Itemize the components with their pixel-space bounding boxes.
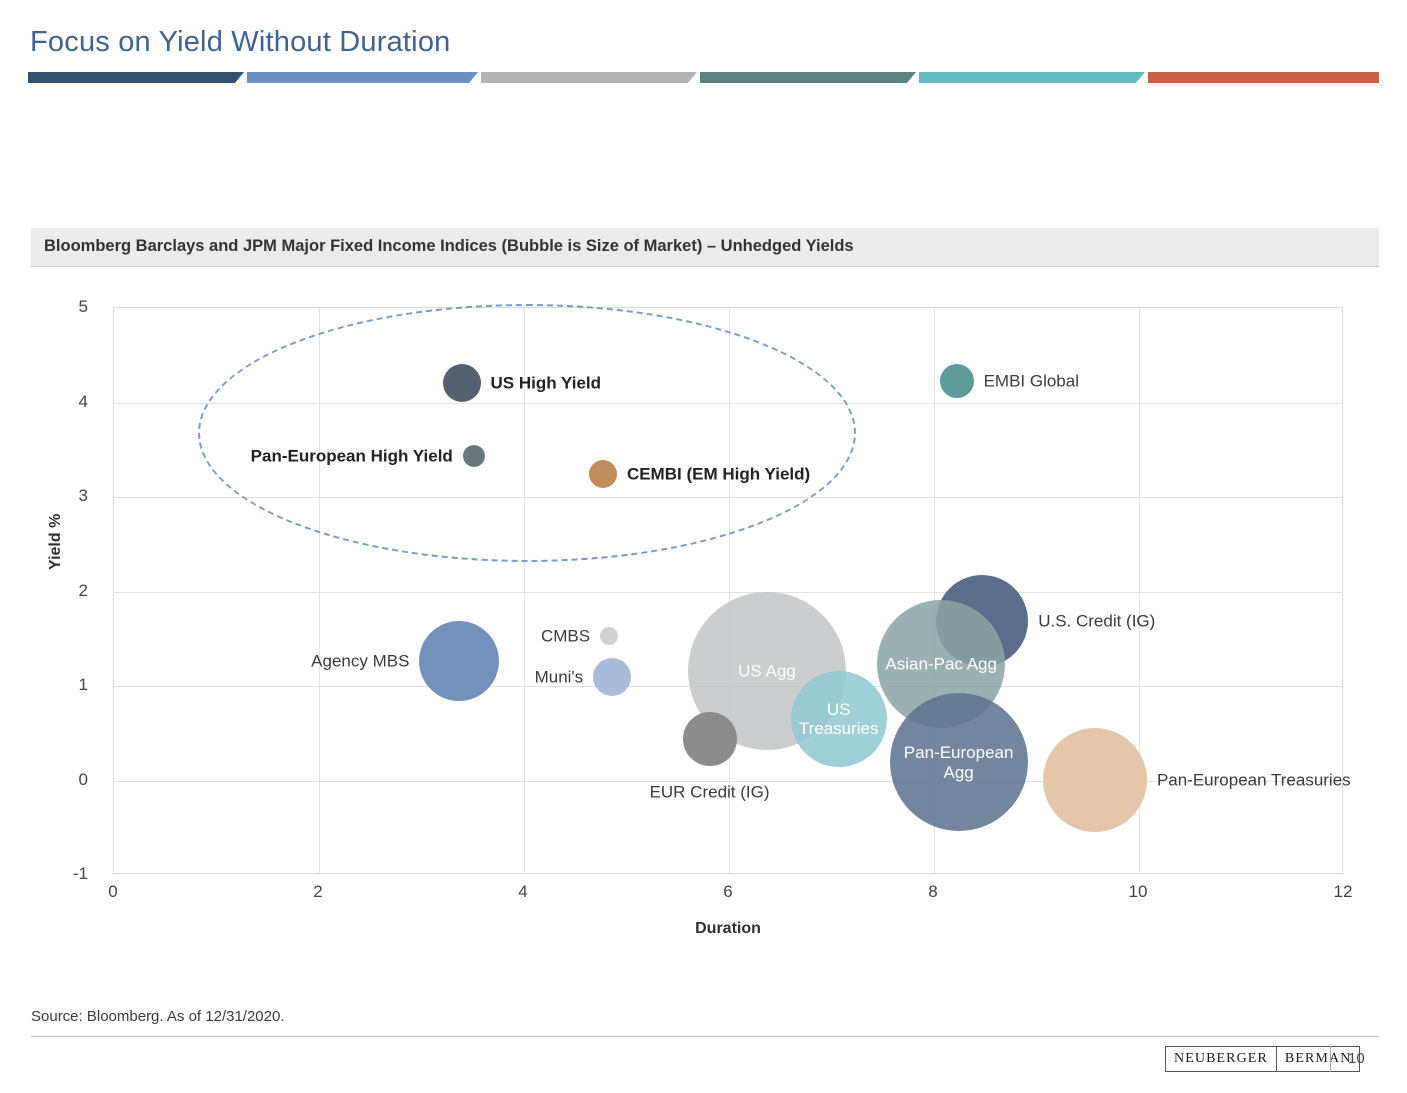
x-axis-tick-6: 6 — [698, 882, 758, 902]
bubble-us-treasuries[interactable] — [791, 671, 887, 767]
segment-gray-fill — [481, 72, 697, 83]
chart-header-rule — [31, 266, 1379, 267]
bubble-cmbs[interactable] — [600, 627, 618, 645]
segment-gray — [481, 72, 697, 83]
bubble-pan-european-treasuries[interactable] — [1043, 728, 1147, 832]
highlight-ellipse-annotation — [198, 304, 856, 562]
x-axis-tick-12: 12 — [1313, 882, 1373, 902]
source-note: Source: Bloomberg. As of 12/31/2020. — [31, 1008, 285, 1025]
y-axis-tick-3: 3 — [48, 486, 88, 506]
segment-blue — [247, 72, 478, 83]
segment-teal-fill — [700, 72, 916, 83]
neuberger-berman-logo: NEUBERGER BERMAN — [1165, 1046, 1360, 1072]
bubble-embi-global[interactable] — [940, 364, 974, 398]
segment-navy — [28, 72, 244, 83]
bubble-agency-mbs[interactable] — [419, 621, 499, 701]
gridline-horizontal — [114, 781, 1342, 782]
x-axis-tick-10: 10 — [1108, 882, 1168, 902]
page-title: Focus on Yield Without Duration — [30, 26, 450, 59]
gridline-horizontal — [114, 592, 1342, 593]
accent-bar — [28, 72, 1379, 83]
bubble-pan-european-agg[interactable] — [890, 693, 1028, 831]
x-axis-label: Duration — [0, 920, 1407, 938]
x-axis-tick-8: 8 — [903, 882, 963, 902]
y-axis-tick-neg1: -1 — [48, 864, 88, 884]
x-axis-tick-4: 4 — [493, 882, 553, 902]
logo-word-neuberger: NEUBERGER — [1166, 1047, 1276, 1071]
bubble-eur-credit-ig[interactable] — [683, 712, 737, 766]
segment-blue-fill — [247, 72, 478, 83]
segment-navy-fill — [28, 72, 244, 83]
segment-aqua — [919, 72, 1145, 83]
segment-teal — [700, 72, 916, 83]
segment-orange — [1148, 72, 1379, 83]
segment-aqua-fill — [919, 72, 1145, 83]
y-axis-tick-0: 0 — [48, 770, 88, 790]
y-axis-tick-2: 2 — [48, 581, 88, 601]
y-axis-tick-5: 5 — [48, 297, 88, 317]
x-axis-tick-0: 0 — [83, 882, 143, 902]
x-axis-tick-2: 2 — [288, 882, 348, 902]
segment-orange-fill — [1148, 72, 1379, 83]
page-number: 10 — [1348, 1050, 1365, 1067]
y-axis-label: Yield % — [47, 514, 65, 570]
footer-rule — [31, 1036, 1379, 1037]
y-axis-tick-4: 4 — [48, 392, 88, 412]
chart-header-title: Bloomberg Barclays and JPM Major Fixed I… — [44, 237, 854, 256]
page-number-divider — [1330, 1046, 1331, 1072]
bubble-muni-s[interactable] — [593, 658, 631, 696]
y-axis-tick-1: 1 — [48, 675, 88, 695]
